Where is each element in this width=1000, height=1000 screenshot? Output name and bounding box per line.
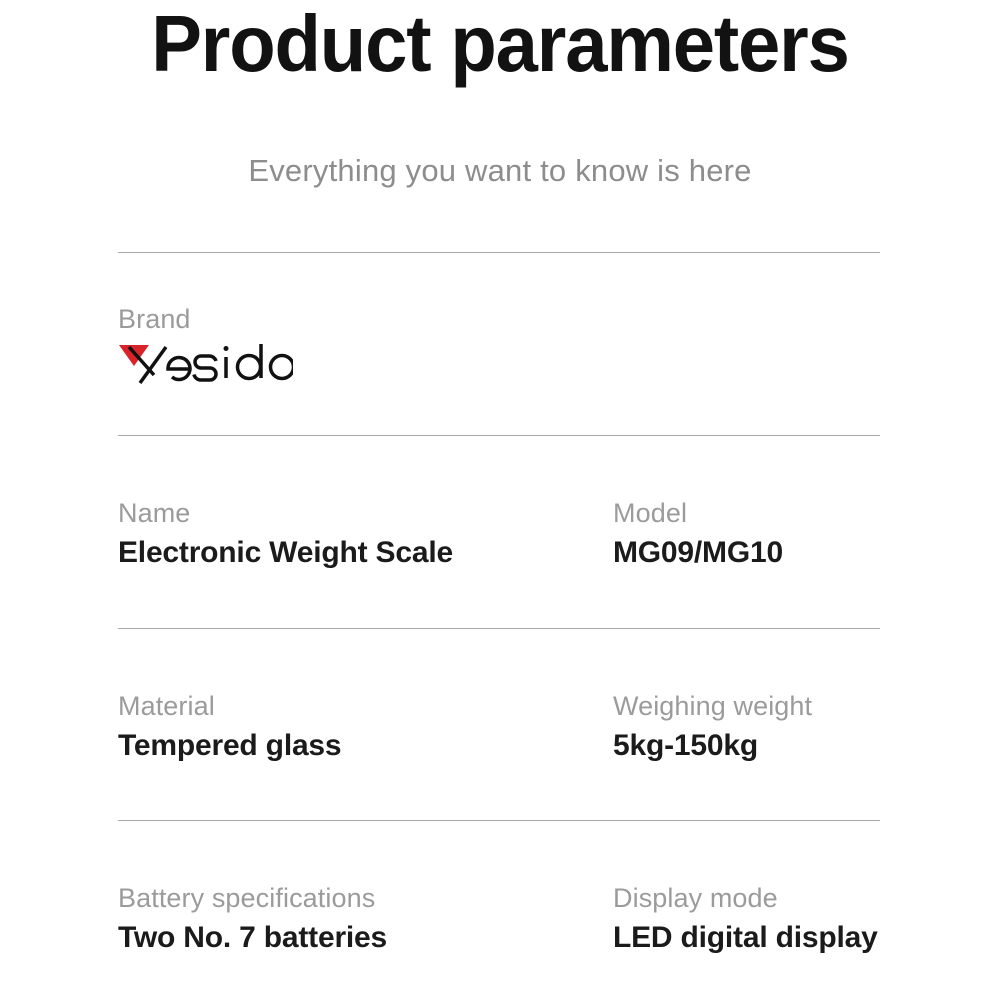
page-subtitle: Everything you want to know is here bbox=[0, 152, 1000, 191]
spec-label-material: Material bbox=[118, 690, 613, 723]
spec-label-display-mode: Display mode bbox=[613, 882, 908, 915]
spec-value-display-mode: LED digital display bbox=[613, 920, 908, 957]
spec-row-brand: Brand bbox=[118, 303, 908, 384]
spec-label-battery-specifications: Battery specifications bbox=[118, 882, 613, 915]
spec-value-name: Electronic Weight Scale bbox=[118, 535, 613, 572]
spec-row-name-model: Name Electronic Weight Scale Model MG09/… bbox=[118, 497, 908, 572]
product-parameters-page: Product parameters Everything you want t… bbox=[0, 0, 1000, 1000]
spec-value-model: MG09/MG10 bbox=[613, 535, 908, 572]
spec-cell-brand: Brand bbox=[118, 303, 613, 384]
spec-value-weighing-weight: 5kg-150kg bbox=[613, 728, 908, 765]
spec-label-name: Name bbox=[118, 497, 613, 530]
spec-cell-weighing-weight: Weighing weight 5kg-150kg bbox=[613, 690, 908, 765]
spec-value-material: Tempered glass bbox=[118, 728, 613, 765]
spec-cell-battery: Battery specifications Two No. 7 batteri… bbox=[118, 882, 613, 957]
spec-label-weighing-weight: Weighing weight bbox=[613, 690, 908, 723]
spec-cell-material: Material Tempered glass bbox=[118, 690, 613, 765]
divider-after-material bbox=[118, 820, 880, 821]
divider-top bbox=[118, 252, 880, 253]
divider-after-name bbox=[118, 628, 880, 629]
spec-label-brand: Brand bbox=[118, 303, 613, 336]
yesido-logo-svg bbox=[118, 338, 293, 384]
spec-value-battery-specifications: Two No. 7 batteries bbox=[118, 920, 613, 957]
yesido-wordmark bbox=[129, 344, 293, 383]
spec-cell-name: Name Electronic Weight Scale bbox=[118, 497, 613, 572]
spec-cell-display-mode: Display mode LED digital display bbox=[613, 882, 908, 957]
spec-cell-model: Model MG09/MG10 bbox=[613, 497, 908, 572]
spec-label-model: Model bbox=[613, 497, 908, 530]
spec-cell-brand-right bbox=[613, 303, 908, 384]
yesido-i-dot bbox=[224, 346, 229, 351]
divider-after-brand bbox=[118, 435, 880, 436]
spec-row-battery-display: Battery specifications Two No. 7 batteri… bbox=[118, 882, 908, 957]
yesido-logo bbox=[118, 338, 613, 384]
spec-row-material-weight: Material Tempered glass Weighing weight … bbox=[118, 690, 908, 765]
page-title: Product parameters bbox=[25, 4, 975, 84]
